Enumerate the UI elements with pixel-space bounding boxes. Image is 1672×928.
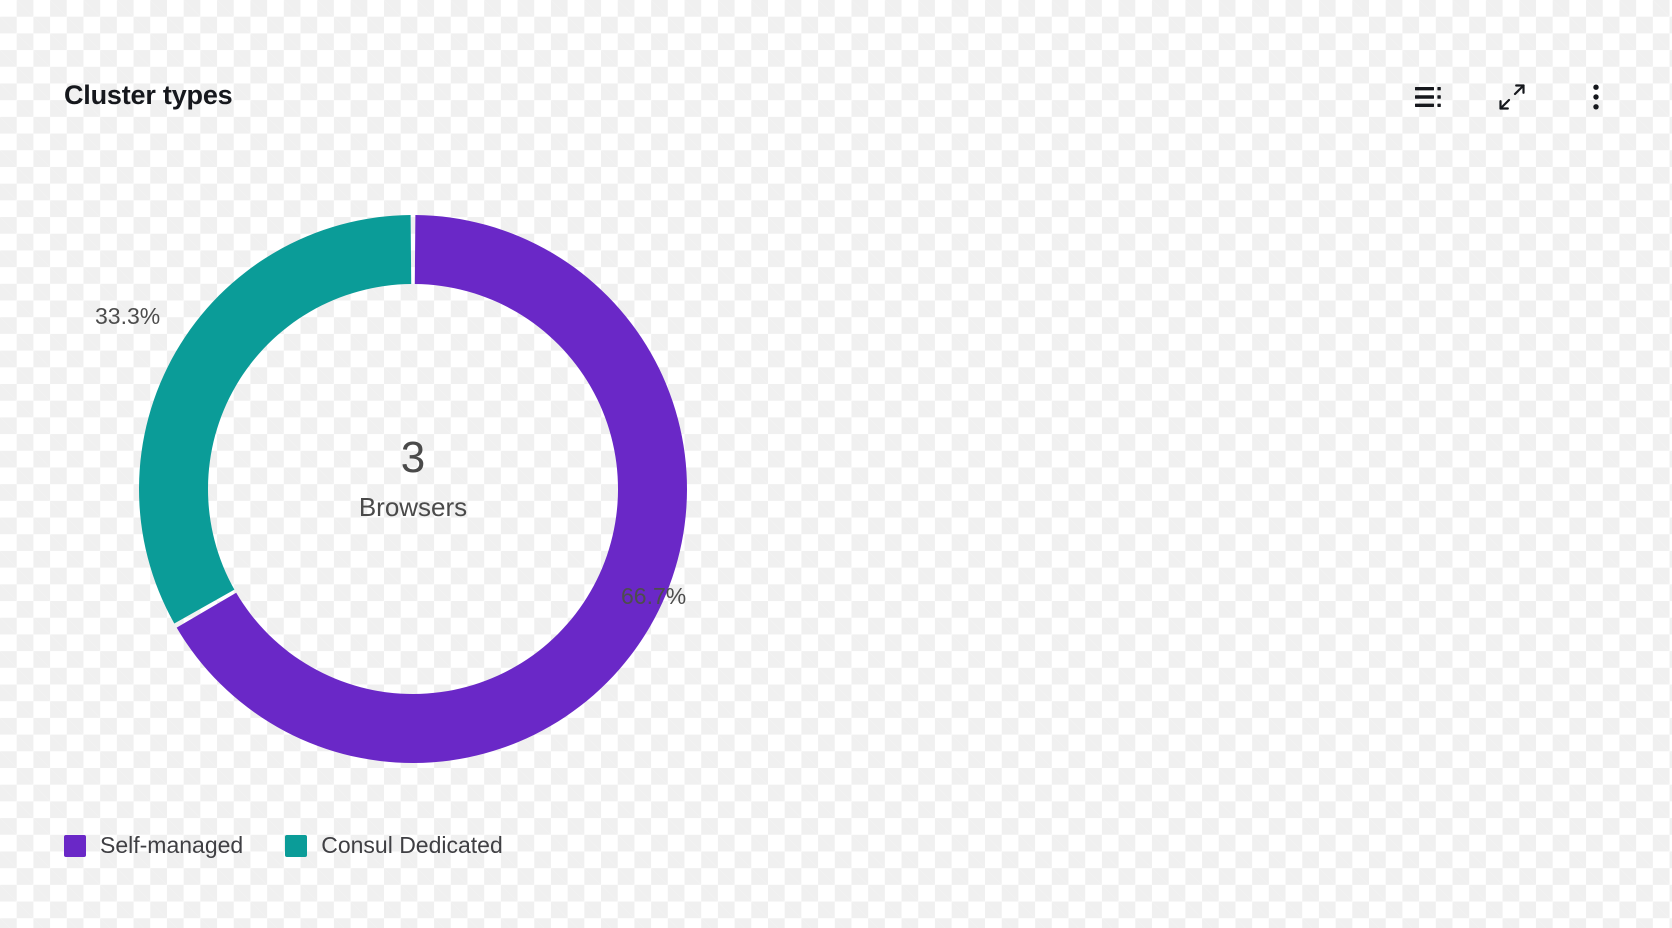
donut-slice-label: 66.7% <box>621 583 686 609</box>
donut-slices <box>139 215 687 763</box>
legend-swatch <box>64 835 86 857</box>
donut-slice[interactable] <box>139 215 411 623</box>
donut-center-label: Browsers <box>359 492 467 522</box>
chart-legend: Self-managed Consul Dedicated <box>64 832 503 859</box>
chart-area: 3 Browsers 66.7%33.3% <box>0 0 1672 928</box>
legend-label: Consul Dedicated <box>321 832 503 859</box>
chart-card: Cluster types <box>0 0 1672 928</box>
legend-item-self-managed[interactable]: Self-managed <box>64 832 243 859</box>
legend-swatch <box>285 835 307 857</box>
legend-item-consul-dedicated[interactable]: Consul Dedicated <box>285 832 503 859</box>
legend-label: Self-managed <box>100 832 243 859</box>
donut-chart[interactable]: 3 Browsers 66.7%33.3% <box>0 0 1672 928</box>
donut-slice-label: 33.3% <box>95 303 160 329</box>
donut-center-value: 3 <box>401 433 425 482</box>
